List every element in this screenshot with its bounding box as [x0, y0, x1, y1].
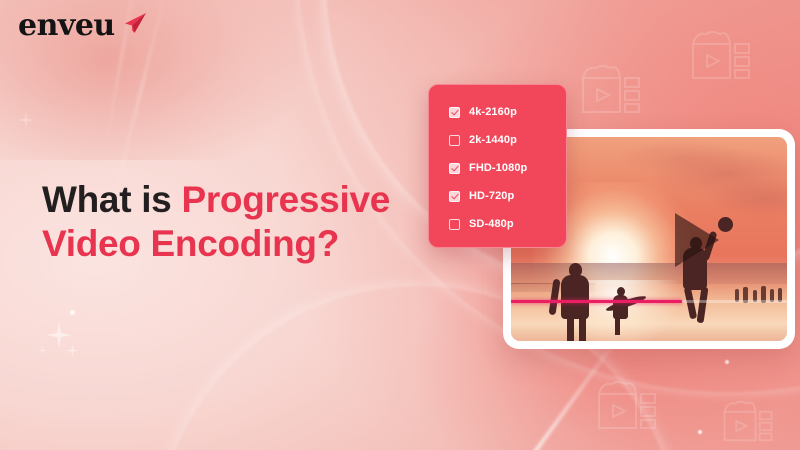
silhouette-walker-leg-right [579, 315, 586, 341]
brand-logo[interactable]: enveu [18, 10, 148, 41]
video-progress-fill [511, 300, 682, 303]
resolution-option-label: SD-480p [469, 218, 514, 230]
headline-accent-1: Progressive [181, 179, 390, 220]
headline-plain: What is [42, 179, 181, 220]
resolution-option-hd-720p[interactable]: HD-720p [429, 182, 566, 210]
media-play-icon [580, 62, 642, 116]
checkbox-checked-icon[interactable] [449, 191, 460, 202]
page-title: What is Progressive Video Encoding? [42, 178, 422, 265]
checkbox-checked-icon[interactable] [449, 107, 460, 118]
sparkle-dot-icon [70, 310, 75, 315]
resolution-option-2k-1440p[interactable]: 2k-1440p [429, 126, 566, 154]
silhouette-walker-body [561, 275, 589, 319]
banner-canvas: enveu What is Progressive Video Encoding… [0, 0, 800, 450]
resolution-option-label: FHD-1080p [469, 162, 527, 174]
sparkle-dot-icon [725, 360, 729, 364]
play-triangle-icon[interactable] [675, 213, 719, 267]
headline-accent-2: Video Encoding? [42, 223, 339, 264]
media-play-icon [596, 378, 658, 432]
media-play-icon [690, 28, 752, 82]
resolution-option-label: 2k-1440p [469, 134, 517, 146]
resolution-option-label: 4k-2160p [469, 106, 517, 118]
paper-plane-icon [122, 10, 148, 41]
brand-name: enveu [18, 11, 115, 41]
media-play-icon [722, 398, 774, 444]
silhouette-walker-leg-left [567, 315, 574, 341]
resolution-option-4k-2160p[interactable]: 4k-2160p [429, 98, 566, 126]
video-progress-bar[interactable] [511, 300, 787, 303]
checkbox-unchecked-icon[interactable] [449, 219, 460, 230]
sparkle-dot-icon [698, 430, 702, 434]
silhouette-surfer-body [613, 295, 628, 319]
checkbox-checked-icon[interactable] [449, 163, 460, 174]
resolution-option-fhd-1080p[interactable]: FHD-1080p [429, 154, 566, 182]
resolution-options-panel[interactable]: 4k-2160p2k-1440pFHD-1080pHD-720pSD-480p [428, 84, 567, 248]
silhouette-surfer-leg [615, 317, 620, 335]
checkbox-unchecked-icon[interactable] [449, 135, 460, 146]
resolution-option-label: HD-720p [469, 190, 514, 202]
resolution-option-sd-480p[interactable]: SD-480p [429, 210, 566, 238]
beach-ball [718, 217, 733, 232]
